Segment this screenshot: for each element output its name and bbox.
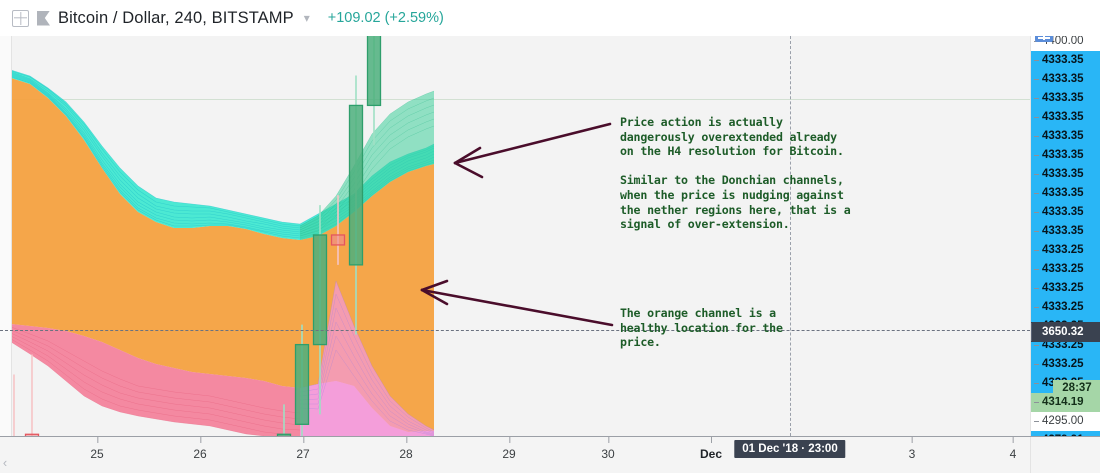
crosshair-horizontal [0,330,1030,331]
candle-body [332,235,345,245]
grid-plus-icon[interactable] [12,10,29,27]
time-tick: 3 [909,447,916,461]
price-scale[interactable]: 4400.004333.354333.354333.354333.354333.… [1030,36,1100,436]
candle-body [296,345,309,425]
bar-countdown-label: 28:37 [1053,380,1100,397]
price-tick: 4333.35 [1031,70,1100,89]
left-rail [0,36,12,436]
crosshair-vertical [790,36,791,436]
annotation-arrow-2 [422,281,612,325]
price-tick: 4333.35 [1031,184,1100,203]
price-tick: 4333.35 [1031,89,1100,108]
annotation-overextended: Price action is actually dangerously ove… [620,115,851,232]
candle-body [350,105,363,264]
price-tick: 4333.35 [1031,51,1100,70]
time-scale-separator [1030,437,1031,473]
flag-icon[interactable] [37,11,50,26]
price-tick: 4333.35 [1031,165,1100,184]
annotation-orange-channel: The orange channel is a healthy location… [620,306,783,350]
chevron-left-icon[interactable]: ‹ [0,455,10,471]
crosshair-time-label: 01 Dec '18 · 23:00 [734,440,845,458]
symbol-title[interactable]: Bitcoin / Dollar, 240, BITSTAMP [58,9,294,28]
time-scale[interactable]: 252627282930Dec34 01 Dec '18 · 23:00 [0,436,1100,473]
time-tick: 4 [1010,447,1017,461]
price-tick: 4333.25 [1031,279,1100,298]
scale-settings-icon[interactable] [1035,36,1053,42]
time-tick: 25 [90,447,103,461]
time-tick: 27 [296,447,309,461]
price-tick: 4333.25 [1031,355,1100,374]
chart-svg [0,36,1030,436]
price-tick: 4333.25 [1031,298,1100,317]
crosshair-knob-icon [1030,322,1033,342]
time-tick: 28 [399,447,412,461]
chart-plot-area[interactable]: Price action is actually dangerously ove… [0,36,1030,436]
quote-change: +109.02 (+2.59%) [328,10,444,26]
price-tick: 4333.25 [1031,241,1100,260]
price-tick: 4333.35 [1031,203,1100,222]
tradingview-chart-screen: Bitcoin / Dollar, 240, BITSTAMP ▾ +109.0… [0,0,1100,473]
price-tick: 4333.35 [1031,222,1100,241]
price-tick: 4333.35 [1031,127,1100,146]
price-tick: 4333.35 [1031,146,1100,165]
price-tick: 4295.00 [1031,412,1100,431]
time-tick: 30 [601,447,614,461]
crosshair-price-label: 3650.32 [1031,322,1100,342]
time-tick: 29 [502,447,515,461]
price-tick: 4333.35 [1031,108,1100,127]
chevron-down-icon[interactable]: ▾ [304,11,310,25]
candle-body [314,235,327,345]
annotation-arrow-1 [455,124,610,177]
time-tick: Dec [700,447,722,461]
chart-header: Bitcoin / Dollar, 240, BITSTAMP ▾ +109.0… [0,0,1100,36]
price-tick: 4333.25 [1031,260,1100,279]
candle-body [368,36,381,105]
time-tick: 26 [193,447,206,461]
